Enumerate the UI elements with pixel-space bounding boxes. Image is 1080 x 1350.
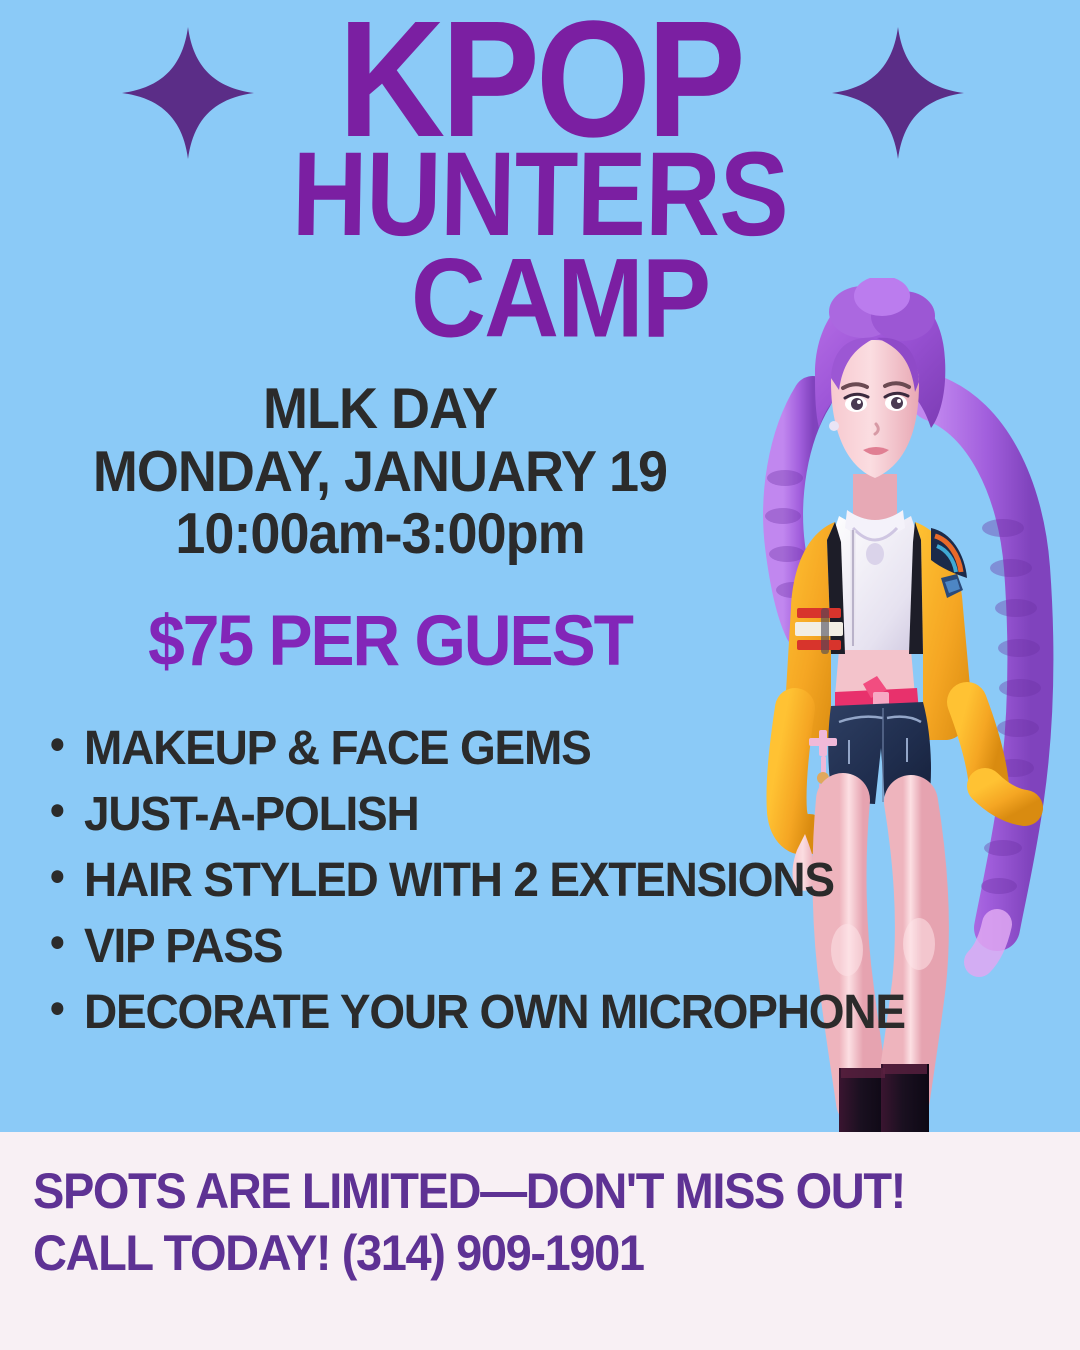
- event-price: $75 PER GUEST: [0, 599, 780, 681]
- features-list: • MAKEUP & FACE GEMS • JUST-A-POLISH • H…: [50, 718, 1030, 1047]
- list-item: • MAKEUP & FACE GEMS: [50, 717, 1030, 779]
- title-line-camp: CAMP: [0, 250, 1080, 351]
- list-item: • DECORATE YOUR OWN MICROPHONE: [50, 980, 1030, 1042]
- headline-block: KPOP HUNTERS CAMP: [0, 0, 1080, 347]
- event-time: 10:00am-3:00pm: [0, 501, 760, 567]
- bullet-icon: •: [50, 717, 84, 773]
- bullet-icon: •: [50, 980, 84, 1036]
- event-holiday: MLK DAY: [0, 376, 760, 442]
- event-date: MONDAY, JANUARY 19: [0, 439, 760, 505]
- footer-copy: SPOTS ARE LIMITED—DON'T MISS OUT! CALL T…: [33, 1160, 1033, 1284]
- bullet-icon: •: [50, 914, 84, 970]
- feature-label: MAKEUP & FACE GEMS: [84, 717, 1030, 779]
- feature-label: DECORATE YOUR OWN MICROPHONE: [84, 980, 1030, 1042]
- title-line-hunters: HUNTERS: [0, 145, 1080, 245]
- list-item: • VIP PASS: [50, 914, 1030, 976]
- bullet-icon: •: [50, 848, 84, 904]
- footer-call-to-action[interactable]: CALL TODAY! (314) 909-1901: [33, 1220, 1033, 1286]
- feature-label: JUST-A-POLISH: [84, 782, 1030, 844]
- footer-urgency-text: SPOTS ARE LIMITED—DON'T MISS OUT!: [33, 1158, 1033, 1224]
- flyer-canvas: KPOP HUNTERS CAMP MLK DAY MONDAY, JANUAR…: [0, 0, 1080, 1350]
- list-item: • HAIR STYLED WITH 2 EXTENSIONS: [50, 848, 1030, 910]
- list-item: • JUST-A-POLISH: [50, 782, 1030, 844]
- event-date-block: MLK DAY MONDAY, JANUARY 19 10:00am-3:00p…: [0, 378, 760, 566]
- feature-label: VIP PASS: [84, 914, 1030, 976]
- bullet-icon: •: [50, 782, 84, 838]
- feature-label: HAIR STYLED WITH 2 EXTENSIONS: [84, 848, 1030, 910]
- footer-band: SPOTS ARE LIMITED—DON'T MISS OUT! CALL T…: [0, 1132, 1080, 1350]
